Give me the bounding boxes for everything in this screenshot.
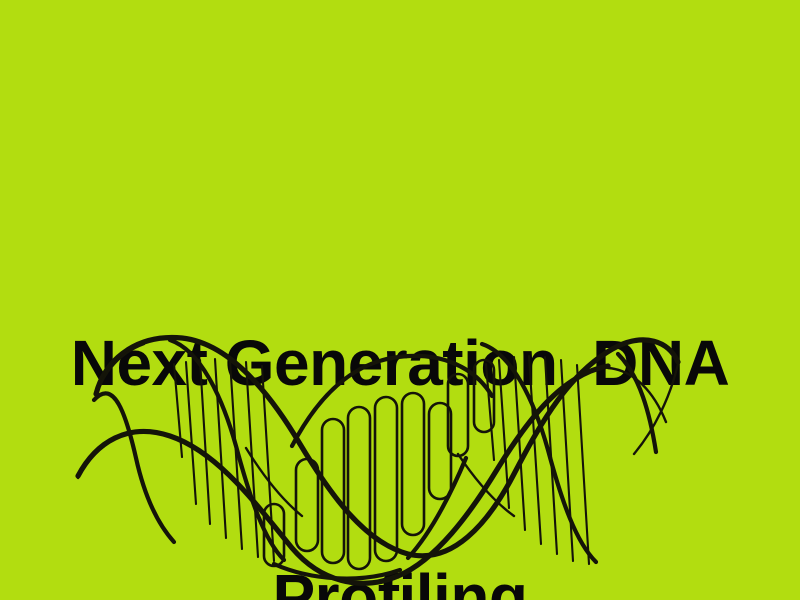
dna-double-helix-illustration [78,318,678,590]
dna-helix-icon [78,318,678,590]
helix-base-pairs-center [296,393,451,569]
poster-canvas: Next Generation DNA Profiling [0,0,800,600]
